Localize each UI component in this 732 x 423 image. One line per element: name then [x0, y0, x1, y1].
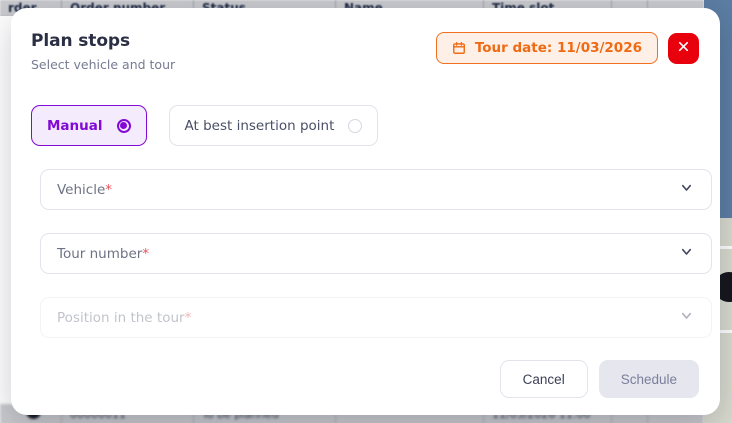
tour-date-badge[interactable]: Tour date: 11/03/2026	[436, 32, 658, 64]
radio-dot	[120, 122, 127, 129]
dialog-footer: Cancel Schedule	[11, 360, 699, 398]
required-marker: *	[185, 310, 192, 326]
header-actions: Tour date: 11/03/2026	[436, 30, 699, 64]
dialog-title: Plan stops	[31, 32, 175, 52]
radio-icon-selected[interactable]	[117, 119, 131, 133]
mode-option-manual[interactable]: Manual	[31, 105, 147, 146]
tour-date-label: Tour date: 11/03/2026	[475, 40, 642, 56]
mode-option-label: At best insertion point	[185, 118, 335, 134]
vehicle-select-label: Vehicle*	[57, 182, 112, 198]
tour-number-select[interactable]: Tour number*	[40, 233, 712, 274]
position-in-tour-select: Position in the tour*	[40, 297, 712, 338]
plan-stops-dialog: Plan stops Select vehicle and tour Tour …	[11, 8, 720, 415]
position-in-tour-select-label: Position in the tour*	[57, 310, 191, 326]
calendar-icon	[452, 41, 466, 55]
required-marker: *	[105, 182, 112, 198]
mode-option-best-insertion-point[interactable]: At best insertion point	[169, 105, 379, 146]
chevron-down-icon	[679, 244, 694, 263]
close-icon	[677, 40, 690, 56]
cancel-button[interactable]: Cancel	[500, 360, 588, 398]
dialog-header: Plan stops Select vehicle and tour Tour …	[11, 8, 720, 88]
required-marker: *	[142, 246, 149, 262]
vehicle-select[interactable]: Vehicle*	[40, 169, 712, 210]
tour-number-select-label: Tour number*	[57, 246, 149, 262]
planning-mode-group: Manual At best insertion point	[31, 105, 378, 146]
chevron-down-icon	[679, 180, 694, 199]
schedule-button: Schedule	[599, 360, 699, 398]
radio-icon-unselected[interactable]	[348, 119, 362, 133]
dialog-subtitle: Select vehicle and tour	[31, 57, 175, 72]
chevron-down-icon	[679, 308, 694, 327]
mode-option-label: Manual	[47, 118, 103, 134]
title-block: Plan stops Select vehicle and tour	[31, 30, 175, 72]
close-button[interactable]	[668, 33, 699, 64]
